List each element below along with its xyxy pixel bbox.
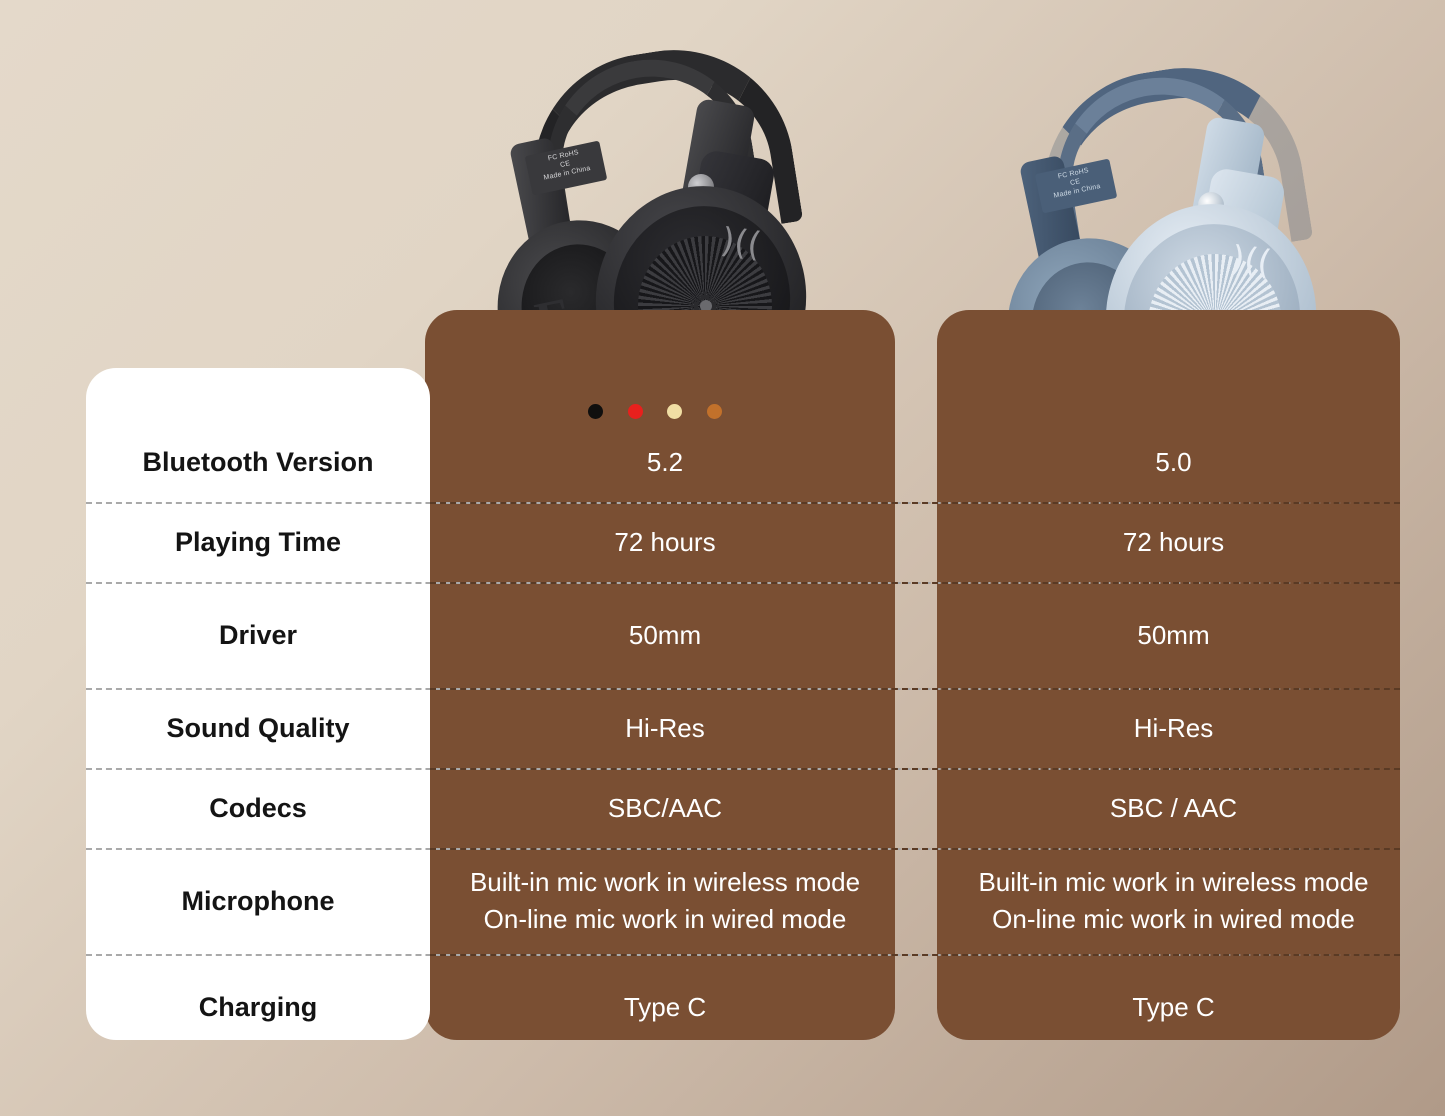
spec-label-playing-time: Playing Time: [86, 527, 430, 558]
spec-value-sound-quality-p1: Hi-Res: [430, 710, 900, 747]
table-row: Bluetooth Version 5.2 5.0: [86, 422, 1400, 502]
spec-label-sound-quality: Sound Quality: [86, 713, 430, 744]
spec-value-driver-p2: 50mm: [942, 617, 1405, 654]
table-row: Codecs SBC/AAC SBC / AAC: [86, 768, 1400, 848]
table-row: Charging Type C Type C: [86, 954, 1400, 1060]
table-row: Sound Quality Hi-Res Hi-Res: [86, 688, 1400, 768]
color-swatch-cream[interactable]: [667, 404, 682, 419]
spec-value-bluetooth-version-p2: 5.0: [942, 444, 1405, 481]
spec-value-microphone-p1-line1: Built-in mic work in wireless mode: [430, 864, 900, 901]
table-row: Driver 50mm 50mm: [86, 582, 1400, 688]
color-swatch-black[interactable]: [588, 404, 603, 419]
spec-value-microphone-p1: Built-in mic work in wireless mode On-li…: [430, 864, 900, 938]
spec-label-codecs: Codecs: [86, 793, 430, 824]
color-swatch-row: [588, 402, 722, 420]
spec-label-charging: Charging: [86, 992, 430, 1023]
spec-value-microphone-p2-line2: On-line mic work in wired mode: [942, 901, 1405, 938]
spec-value-charging-p2: Type C: [942, 989, 1405, 1026]
spec-value-bluetooth-version-p1: 5.2: [430, 444, 900, 481]
brand-logo-icon: )((: [1225, 235, 1277, 287]
spec-value-codecs-p1: SBC/AAC: [430, 790, 900, 827]
spec-value-microphone-p2-line1: Built-in mic work in wireless mode: [942, 864, 1405, 901]
table-row: Microphone Built-in mic work in wireless…: [86, 848, 1400, 954]
spec-value-playing-time-p2: 72 hours: [942, 524, 1405, 561]
spec-value-charging-p1: Type C: [430, 989, 900, 1026]
spec-label-bluetooth-version: Bluetooth Version: [86, 447, 430, 478]
spec-comparison-table: Bluetooth Version 5.2 5.0 Playing Time 7…: [86, 422, 1400, 1060]
brand-logo-icon: )((: [715, 217, 767, 269]
spec-label-microphone: Microphone: [86, 886, 430, 917]
spec-value-sound-quality-p2: Hi-Res: [942, 710, 1405, 747]
spec-value-driver-p1: 50mm: [430, 617, 900, 654]
spec-value-codecs-p2: SBC / AAC: [942, 790, 1405, 827]
color-swatch-orange[interactable]: [707, 404, 722, 419]
spec-label-driver: Driver: [86, 620, 430, 651]
color-swatch-red[interactable]: [628, 404, 643, 419]
spec-value-playing-time-p1: 72 hours: [430, 524, 900, 561]
spec-value-microphone-p2: Built-in mic work in wireless mode On-li…: [942, 864, 1405, 938]
table-row: Playing Time 72 hours 72 hours: [86, 502, 1400, 582]
spec-value-microphone-p1-line2: On-line mic work in wired mode: [430, 901, 900, 938]
